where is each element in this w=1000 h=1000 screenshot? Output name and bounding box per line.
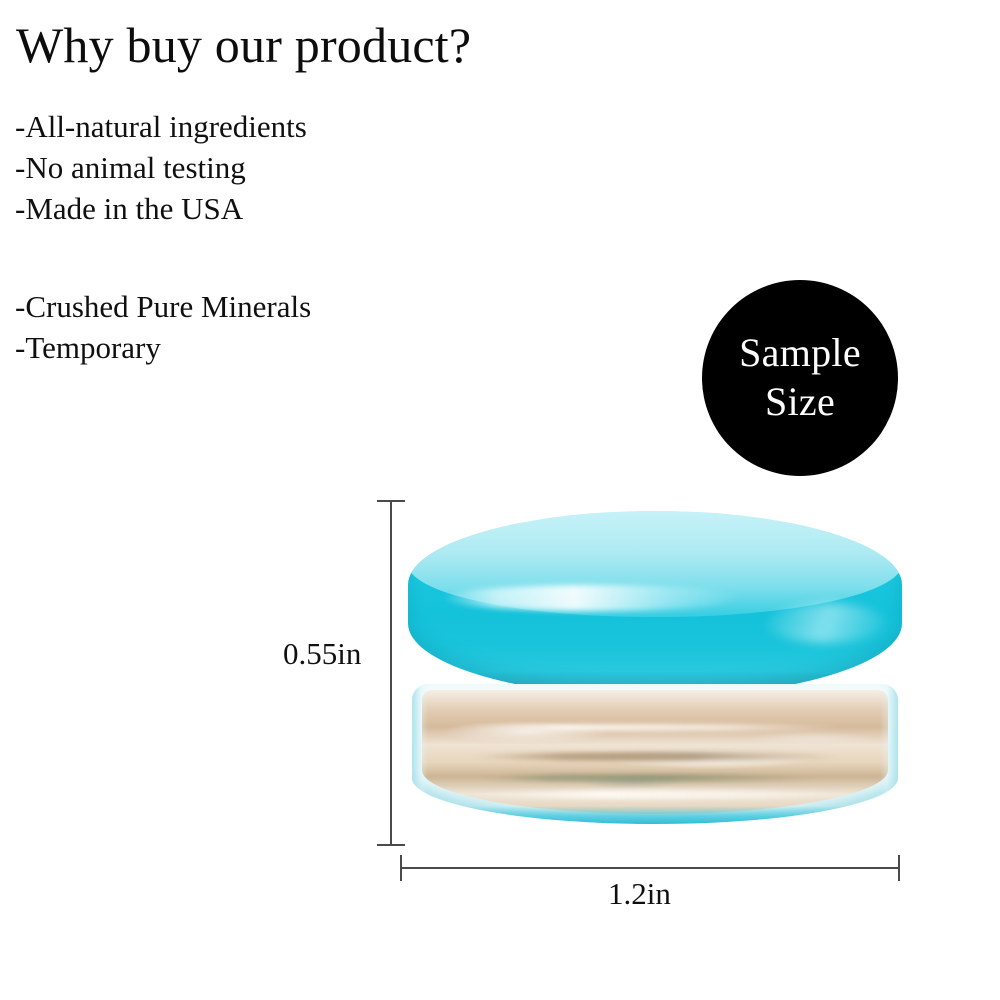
powder-streak [472, 752, 842, 761]
list-item: -Crushed Pure Minerals [15, 286, 311, 327]
list-item: -Temporary [15, 327, 311, 368]
width-dimension-line [400, 867, 900, 869]
jar-lid [408, 511, 902, 697]
benefits-secondary-list: -Crushed Pure Minerals -Temporary [15, 286, 311, 368]
jar-lid-highlight [442, 585, 742, 611]
height-dimension-cap-bottom [377, 844, 405, 846]
benefits-primary-list: -All-natural ingredients -No animal test… [15, 106, 307, 230]
width-dimension-cap-right [898, 855, 900, 881]
powder-streak [446, 724, 846, 731]
jar-lid-highlight-secondary [766, 603, 886, 643]
jar-glass-right-edge [880, 684, 898, 824]
list-item: -All-natural ingredients [15, 106, 307, 147]
badge-line-1: Sample [739, 329, 861, 378]
jar-glass-left-edge [412, 684, 428, 824]
page-title: Why buy our product? [16, 18, 471, 72]
powder-streak [482, 774, 822, 782]
width-dimension-label: 1.2in [608, 876, 671, 912]
product-jar-image [406, 506, 902, 826]
jar-glass-bottom-edge [412, 806, 898, 824]
badge-line-2: Size [765, 378, 835, 427]
powder-streak [462, 790, 862, 799]
height-dimension-line [390, 500, 392, 846]
product-infographic: Why buy our product? -All-natural ingred… [0, 0, 1000, 1000]
mineral-powder-contents [422, 690, 888, 814]
sample-size-badge: Sample Size [702, 280, 898, 476]
height-dimension-label: 0.55in [283, 636, 361, 672]
jar-base [412, 684, 898, 824]
list-item: -Made in the USA [15, 188, 307, 229]
list-item: -No animal testing [15, 147, 307, 188]
